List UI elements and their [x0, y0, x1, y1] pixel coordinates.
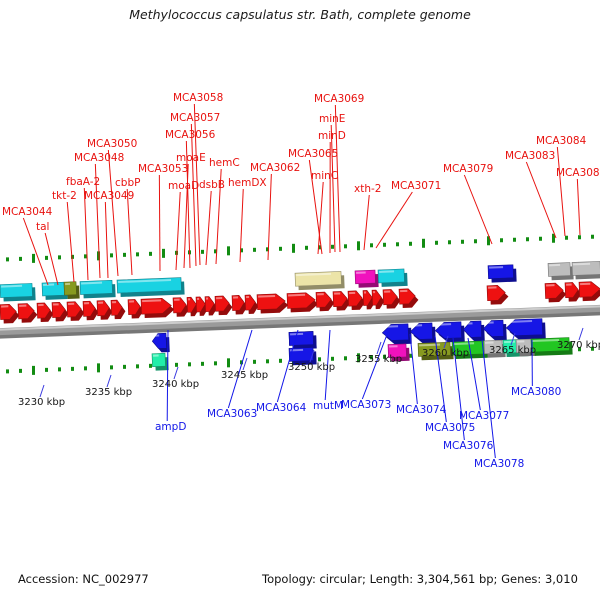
bottom-gene-label[interactable]: MCA3078 — [474, 458, 524, 470]
ruler-tick-upper-minor — [331, 245, 334, 249]
ruler-tick-upper-major — [162, 249, 165, 258]
feature-highlight — [174, 299, 180, 301]
genome-map-canvas — [0, 0, 600, 600]
top-gene-label[interactable]: MCA3085 — [556, 167, 600, 179]
top-gene-label[interactable]: MCA3050 — [87, 138, 137, 150]
feature-highlight — [488, 286, 497, 288]
bottom-gene-label[interactable]: mutM — [313, 400, 343, 412]
ruler-tick-lower-minor — [214, 361, 217, 365]
feature-highlight — [43, 284, 54, 286]
ruler-tick-upper-minor — [45, 256, 48, 260]
top-gene-label[interactable]: minD — [318, 130, 346, 142]
ruler-tick-lower-major — [227, 358, 230, 367]
top-gene-label[interactable]: MCA3058 — [173, 92, 223, 104]
genome-stats-text: Topology: circular; Length: 3,304,561 bp… — [262, 572, 578, 586]
feature-highlight — [206, 298, 208, 300]
leader-line — [526, 162, 556, 238]
feature-highlight — [373, 291, 375, 293]
feature-highlight — [384, 291, 390, 293]
forward-gene-feature[interactable] — [37, 303, 54, 323]
leader-line — [362, 332, 388, 399]
ruler-tick-upper-minor — [539, 237, 542, 241]
feature-highlight — [349, 292, 355, 294]
bottom-gene-label[interactable]: MCA3076 — [443, 440, 493, 452]
forward-gene-feature[interactable] — [316, 292, 335, 312]
feature-highlight — [317, 293, 324, 295]
forward-gene-feature[interactable] — [579, 281, 600, 301]
forward-gene-feature[interactable] — [257, 293, 289, 313]
bottom-gene-label[interactable]: MCA3074 — [396, 404, 446, 416]
feature-highlight — [188, 298, 190, 300]
feature-highlight — [53, 303, 59, 305]
ruler-tick-lower-minor — [344, 356, 347, 360]
leader-line — [331, 125, 335, 252]
ruler-tick-upper-minor — [578, 235, 581, 239]
feature-highlight — [68, 303, 74, 305]
forward-gene-feature[interactable] — [487, 285, 509, 305]
scale-pointer — [107, 375, 111, 387]
ruler-tick-upper-minor — [396, 242, 399, 246]
reverse-gene-feature[interactable] — [152, 333, 170, 353]
top-gene-label[interactable]: hemC — [209, 157, 240, 169]
forward-gene-feature[interactable] — [141, 298, 175, 318]
forward-gene-feature[interactable] — [18, 303, 38, 323]
domain-feature[interactable] — [378, 269, 408, 287]
ruler-tick-upper-minor — [526, 237, 529, 241]
feature-highlight — [233, 296, 238, 298]
leader-line — [364, 195, 369, 250]
leader-line — [464, 175, 492, 244]
ruler-tick-upper-major — [32, 254, 35, 263]
ruler-tick-lower-minor — [279, 359, 282, 363]
scale-pointer — [243, 358, 247, 370]
ruler-tick-lower-minor — [188, 362, 191, 366]
ruler-tick-lower-minor — [149, 364, 152, 368]
domain-feature[interactable] — [0, 283, 36, 301]
ruler-tick-upper-minor — [435, 241, 438, 245]
top-gene-label[interactable]: MCA3044 — [2, 206, 52, 218]
feature-highlight — [153, 334, 159, 336]
top-gene-label[interactable]: moaD — [168, 180, 199, 192]
top-gene-label[interactable]: dsbB — [199, 179, 225, 191]
top-gene-label[interactable]: MCA3069 — [314, 93, 364, 105]
ruler-tick-upper-minor — [305, 246, 308, 250]
top-gene-label[interactable]: fbaA-2 — [66, 176, 100, 188]
domain-feature[interactable] — [117, 277, 185, 297]
ruler-tick-upper-minor — [565, 236, 568, 240]
ruler-tick-lower-minor — [84, 366, 87, 370]
domain-feature[interactable] — [295, 271, 345, 290]
scale-pointer — [579, 328, 583, 340]
axis-tick-label: 3240 kbp — [152, 379, 199, 390]
ruler-tick-upper-minor — [383, 243, 386, 247]
ruler-tick-lower-minor — [19, 369, 22, 373]
feature-highlight — [112, 301, 116, 303]
ruler-tick-upper-minor — [149, 252, 152, 256]
ruler-tick-lower-minor — [201, 362, 204, 366]
ruler-tick-upper-minor — [201, 250, 204, 254]
feature-highlight — [334, 292, 340, 294]
leader-line — [67, 202, 74, 282]
feature-highlight — [98, 302, 103, 304]
ruler-tick-upper-minor — [123, 253, 126, 257]
axis-tick-label: 3230 kbp — [18, 397, 65, 408]
bottom-gene-label[interactable]: MCA3073 — [341, 399, 391, 411]
leader-line — [410, 334, 417, 404]
axis-tick-label: 3235 kbp — [85, 387, 132, 398]
ruler-tick-lower-minor — [123, 365, 126, 369]
forward-gene-feature[interactable] — [545, 283, 567, 303]
ruler-tick-lower-minor — [45, 368, 48, 372]
top-gene-label[interactable]: MCA3071 — [391, 180, 441, 192]
top-gene-label[interactable]: tal — [36, 221, 49, 233]
ruler-tick-upper-minor — [6, 257, 9, 261]
ruler-tick-lower-minor — [253, 360, 256, 364]
domain-feature[interactable] — [488, 265, 517, 283]
top-gene-label[interactable]: MCA3049 — [84, 190, 134, 202]
axis-tick-label: 3265 kbp — [489, 345, 536, 356]
ruler-tick-upper-minor — [370, 243, 373, 247]
leader-line — [105, 202, 108, 278]
forward-gene-feature[interactable] — [215, 296, 233, 316]
reverse-gene-feature[interactable] — [382, 324, 412, 345]
feature-highlight — [464, 322, 473, 324]
feature-highlight — [400, 290, 407, 292]
forward-gene-feature[interactable] — [383, 289, 401, 309]
feature-highlight — [19, 305, 26, 307]
ruler-tick-lower-major — [97, 363, 100, 372]
leader-line — [268, 174, 271, 260]
forward-gene-feature[interactable] — [67, 301, 85, 321]
axis-tick-label: 3260 kbp — [422, 348, 469, 359]
axis-tick-label: 3255 kbp — [355, 354, 402, 365]
ruler-tick-upper-minor — [409, 242, 412, 246]
bottom-gene-label[interactable]: ampD — [155, 421, 186, 433]
forward-gene-feature[interactable] — [97, 300, 113, 320]
bottom-gene-label[interactable]: MCA3063 — [207, 408, 257, 420]
reverse-gene-feature[interactable] — [435, 322, 465, 343]
ruler-tick-upper-minor — [448, 240, 451, 244]
top-gene-label[interactable]: hemDX — [228, 177, 267, 189]
feature-highlight — [84, 302, 89, 304]
feature-highlight — [216, 297, 222, 299]
bottom-gene-label[interactable]: MCA3077 — [459, 410, 509, 422]
reverse-gene-feature[interactable] — [483, 320, 507, 341]
domain-feature[interactable] — [548, 262, 574, 280]
feature-highlight — [580, 283, 590, 285]
top-gene-label[interactable]: MCA3079 — [443, 163, 493, 175]
accession-text: Accession: NC_002977 — [18, 572, 149, 586]
feature-highlight — [197, 298, 199, 300]
ruler-tick-lower-minor — [71, 367, 74, 371]
top-gene-label[interactable]: MCA3065 — [288, 148, 338, 160]
feature-highlight — [65, 283, 70, 285]
feature-highlight — [356, 271, 366, 273]
reverse-gene-feature[interactable] — [506, 319, 546, 340]
ruler-tick-upper-minor — [461, 240, 464, 244]
domain-feature[interactable] — [572, 261, 600, 279]
domain-feature[interactable] — [80, 280, 116, 298]
forward-gene-feature[interactable] — [399, 288, 419, 308]
ruler-tick-upper-minor — [344, 244, 347, 248]
ruler-tick-upper-major — [422, 239, 425, 248]
top-gene-label[interactable]: tkt-2 — [52, 190, 77, 202]
feature-highlight — [1, 305, 8, 307]
domain-feature[interactable] — [355, 270, 379, 288]
bottom-gene-label[interactable]: MCA3080 — [511, 386, 561, 398]
ruler-tick-upper-minor — [279, 247, 282, 251]
ruler-tick-lower-minor — [318, 357, 321, 361]
feature-highlight — [566, 283, 572, 285]
feature-highlight — [389, 345, 398, 347]
leader-line — [108, 150, 118, 276]
axis-tick-label: 3250 kbp — [288, 362, 335, 373]
top-gene-label[interactable]: MCA3084 — [536, 135, 586, 147]
forward-gene-feature[interactable] — [52, 302, 69, 322]
feature-highlight — [364, 291, 366, 293]
domain-feature[interactable] — [42, 282, 68, 300]
top-gene-label[interactable]: MCA3083 — [505, 150, 555, 162]
ruler-tick-upper-major — [357, 241, 360, 250]
ruler-tick-upper-minor — [474, 239, 477, 243]
top-gene-label[interactable]: cbbP — [115, 177, 140, 189]
ruler-tick-lower-minor — [136, 364, 139, 368]
leader-line — [159, 175, 160, 271]
reverse-gene-feature[interactable] — [410, 323, 436, 344]
feature-highlight — [517, 340, 524, 342]
scale-pointer — [174, 367, 178, 379]
feature-highlight — [504, 341, 515, 343]
ruler-tick-lower-minor — [266, 359, 269, 363]
ruler-tick-upper-minor — [136, 252, 139, 256]
ruler-tick-lower-minor — [6, 369, 9, 373]
forward-gene-feature[interactable] — [287, 292, 319, 312]
forward-gene-feature[interactable] — [111, 300, 126, 320]
feature-highlight — [546, 284, 555, 286]
ruler-tick-upper-minor — [58, 255, 61, 259]
ruler-tick-upper-minor — [591, 235, 594, 239]
forward-gene-feature[interactable] — [0, 304, 20, 324]
ruler-tick-upper-minor — [19, 257, 22, 261]
leader-line — [228, 330, 252, 408]
ruler-tick-lower-minor — [110, 365, 113, 369]
feature-highlight — [485, 342, 494, 344]
ruler-tick-upper-major — [227, 246, 230, 255]
leader-line — [577, 179, 580, 235]
axis-tick-label: 3270 kbp — [557, 340, 600, 351]
axis-tick-label: 3245 kbp — [221, 370, 268, 381]
feature-highlight — [246, 296, 249, 298]
feature-highlight — [484, 322, 494, 324]
ruler-tick-lower-minor — [58, 367, 61, 371]
genome-map-viewer: Methylococcus capsulatus str. Bath, comp… — [0, 0, 600, 600]
top-gene-label[interactable]: xth-2 — [354, 183, 381, 195]
ruler-tick-upper-minor — [253, 248, 256, 252]
ruler-tick-upper-minor — [110, 253, 113, 257]
feature-highlight — [549, 264, 560, 266]
top-gene-label[interactable]: MCA3057 — [170, 112, 220, 124]
leader-line — [376, 192, 412, 248]
bottom-gene-label[interactable]: MCA3064 — [256, 402, 306, 414]
top-gene-label[interactable]: MCA3048 — [74, 152, 124, 164]
leader-line — [557, 147, 565, 236]
ruler-tick-lower-major — [32, 366, 35, 375]
scale-pointer — [40, 385, 44, 397]
reverse-gene-feature[interactable] — [463, 321, 485, 342]
ruler-tick-upper-major — [292, 244, 295, 253]
leader-line — [176, 192, 180, 270]
ruler-tick-upper-minor — [500, 238, 503, 242]
ruler-tick-upper-minor — [513, 238, 516, 242]
feature-highlight — [411, 324, 422, 326]
forward-gene-feature[interactable] — [83, 301, 99, 321]
forward-gene-feature[interactable] — [245, 295, 259, 314]
ruler-tick-lower-minor — [175, 363, 178, 367]
top-gene-label[interactable]: MCA3062 — [250, 162, 300, 174]
top-gene-label[interactable]: minE — [319, 113, 345, 125]
top-gene-label[interactable]: MCA3056 — [165, 129, 215, 141]
leader-line — [206, 191, 211, 265]
top-gene-label[interactable]: MCA3053 — [138, 163, 188, 175]
bottom-gene-label[interactable]: MCA3075 — [425, 422, 475, 434]
feature-highlight — [153, 354, 159, 356]
feature-highlight — [129, 300, 134, 302]
ruler-tick-lower-minor — [331, 357, 334, 361]
lower-domain-feature[interactable] — [152, 353, 169, 371]
top-gene-label[interactable]: moaE — [176, 152, 206, 164]
feature-highlight — [38, 304, 44, 306]
top-gene-label[interactable]: minC — [311, 170, 338, 182]
